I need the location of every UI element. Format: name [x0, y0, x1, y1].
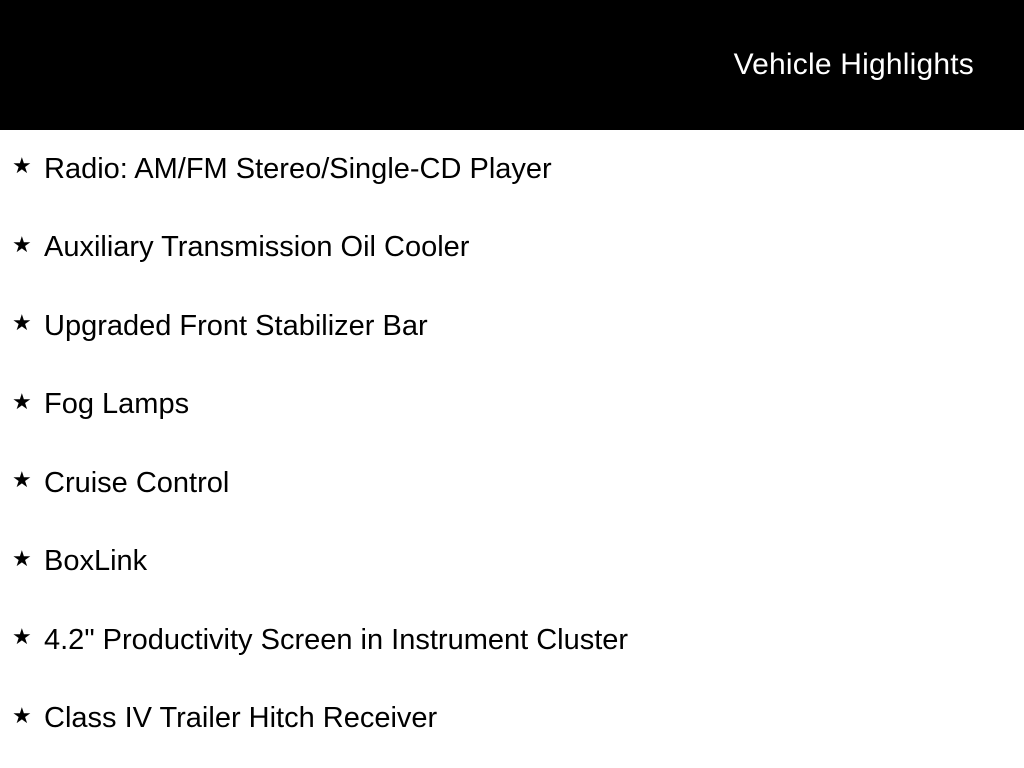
star-bullet-icon: ★	[12, 313, 44, 335]
list-item: ★ Class IV Trailer Hitch Receiver	[0, 680, 1024, 759]
list-item: ★ Radio: AM/FM Stereo/Single-CD Player	[0, 130, 1024, 209]
highlight-label: Radio: AM/FM Stereo/Single-CD Player	[44, 155, 552, 184]
list-item: ★ BoxLink	[0, 523, 1024, 602]
star-bullet-icon: ★	[12, 392, 44, 414]
highlight-label: Class IV Trailer Hitch Receiver	[44, 704, 437, 733]
list-item: ★ Cruise Control	[0, 444, 1024, 523]
page-title: Vehicle Highlights	[734, 50, 974, 80]
star-bullet-icon: ★	[12, 549, 44, 571]
list-item: ★ Auxiliary Transmission Oil Cooler	[0, 209, 1024, 288]
highlight-label: Cruise Control	[44, 469, 229, 498]
highlight-label: Auxiliary Transmission Oil Cooler	[44, 233, 469, 262]
list-item: ★ 4.2" Productivity Screen in Instrument…	[0, 601, 1024, 680]
highlight-label: BoxLink	[44, 547, 147, 576]
highlight-label: 4.2" Productivity Screen in Instrument C…	[44, 626, 628, 655]
star-bullet-icon: ★	[12, 235, 44, 257]
star-bullet-icon: ★	[12, 470, 44, 492]
highlight-label: Fog Lamps	[44, 390, 189, 419]
star-bullet-icon: ★	[12, 156, 44, 178]
star-bullet-icon: ★	[12, 627, 44, 649]
list-item: ★ Fog Lamps	[0, 366, 1024, 445]
header-bar: Vehicle Highlights	[0, 0, 1024, 130]
highlight-label: Upgraded Front Stabilizer Bar	[44, 312, 428, 341]
star-bullet-icon: ★	[12, 706, 44, 728]
list-item: ★ Upgraded Front Stabilizer Bar	[0, 287, 1024, 366]
vehicle-highlights-list: ★ Radio: AM/FM Stereo/Single-CD Player ★…	[0, 130, 1024, 758]
vehicle-highlights-page: Vehicle Highlights ★ Radio: AM/FM Stereo…	[0, 0, 1024, 768]
